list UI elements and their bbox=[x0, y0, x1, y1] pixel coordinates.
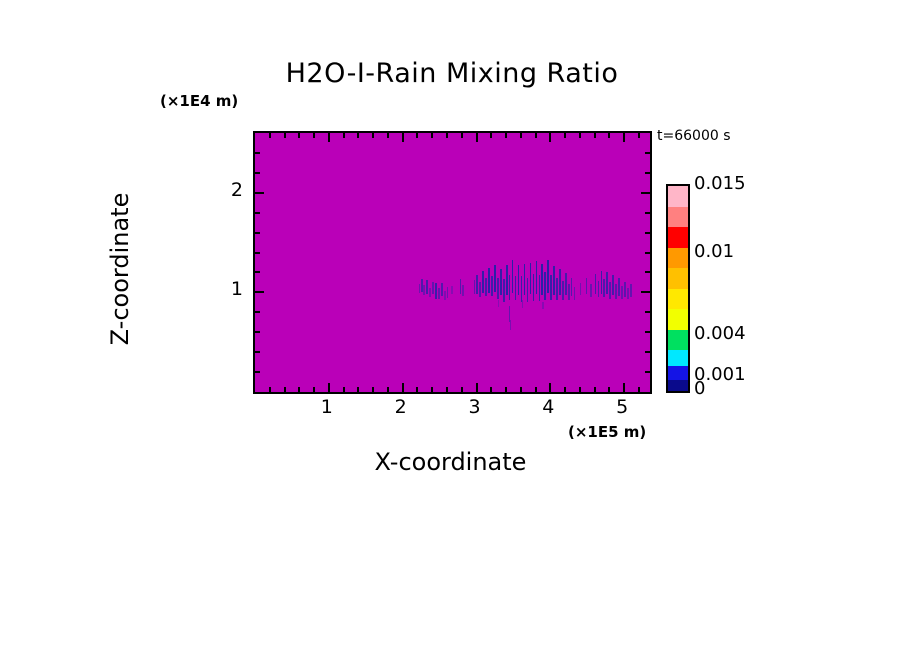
data-streak bbox=[521, 276, 523, 302]
y-tick bbox=[255, 192, 264, 194]
colorbar-band bbox=[668, 380, 688, 391]
data-streak bbox=[515, 276, 517, 300]
data-streak bbox=[438, 288, 440, 299]
x-tick-top bbox=[343, 387, 345, 392]
colorbar-band bbox=[668, 186, 688, 207]
y-tick-label: 1 bbox=[213, 278, 243, 300]
data-streak bbox=[539, 275, 541, 301]
data-streak bbox=[509, 275, 511, 300]
data-streak bbox=[497, 278, 499, 299]
x-tick-top bbox=[520, 387, 522, 392]
y-tick bbox=[255, 291, 264, 293]
heatmap-field bbox=[255, 133, 650, 392]
data-streak bbox=[630, 284, 632, 297]
y-tick-right bbox=[641, 291, 650, 293]
plot-area bbox=[253, 131, 652, 394]
x-tick-top bbox=[505, 387, 507, 392]
time-annotation: t=66000 s bbox=[657, 128, 731, 144]
x-tick bbox=[387, 133, 389, 138]
colorbar-tick-label: 0.004 bbox=[694, 323, 746, 344]
x-tick-top bbox=[431, 387, 433, 392]
data-streak bbox=[627, 288, 629, 299]
x-tick bbox=[284, 133, 286, 138]
x-tick-top bbox=[608, 387, 610, 392]
x-tick bbox=[520, 133, 522, 138]
data-streak bbox=[606, 272, 608, 294]
x-axis-unit-label: (×1E5 m) bbox=[568, 423, 646, 441]
x-tick bbox=[490, 133, 492, 138]
data-streak bbox=[435, 283, 437, 299]
colorbar-band bbox=[668, 309, 688, 330]
colorbar-tick-label: 0.015 bbox=[694, 173, 746, 194]
y-tick bbox=[255, 232, 260, 234]
data-streak bbox=[562, 281, 564, 300]
x-tick-top bbox=[564, 387, 566, 392]
data-streak bbox=[432, 282, 434, 294]
data-streak bbox=[503, 279, 505, 302]
data-streak bbox=[533, 274, 535, 301]
data-streak bbox=[609, 282, 611, 299]
data-streak bbox=[580, 283, 582, 295]
data-streak bbox=[491, 276, 493, 296]
y-tick-label: 2 bbox=[213, 179, 243, 201]
y-tick bbox=[255, 331, 260, 333]
x-tick-top bbox=[623, 383, 625, 392]
y-axis-unit-label: (×1E4 m) bbox=[160, 92, 238, 110]
x-tick-top bbox=[461, 387, 463, 392]
y-tick bbox=[255, 212, 260, 214]
colorbar-band bbox=[668, 289, 688, 310]
x-tick bbox=[269, 133, 271, 138]
data-streak bbox=[447, 287, 449, 298]
data-streak bbox=[559, 269, 561, 295]
y-tick-right bbox=[645, 371, 650, 373]
x-tick-top bbox=[372, 387, 374, 392]
data-streak bbox=[550, 275, 552, 300]
x-tick bbox=[608, 133, 610, 138]
x-tick bbox=[328, 133, 330, 142]
x-tick-top bbox=[387, 387, 389, 392]
x-tick-top bbox=[284, 387, 286, 392]
data-streak bbox=[518, 265, 520, 295]
y-tick-right bbox=[645, 271, 650, 273]
data-streak bbox=[615, 284, 617, 299]
colorbar-band bbox=[668, 227, 688, 248]
data-streak bbox=[553, 266, 555, 295]
data-streak bbox=[460, 279, 462, 294]
data-streak bbox=[544, 272, 546, 300]
y-tick bbox=[255, 271, 260, 273]
data-streak bbox=[595, 274, 597, 294]
x-tick-label: 2 bbox=[381, 396, 421, 418]
x-tick-top bbox=[269, 387, 271, 392]
y-tick bbox=[255, 252, 260, 254]
y-tick bbox=[255, 152, 260, 154]
data-streak bbox=[462, 285, 464, 296]
y-tick bbox=[255, 371, 260, 373]
y-tick-right bbox=[645, 212, 650, 214]
x-tick bbox=[298, 133, 300, 138]
x-tick-top bbox=[298, 387, 300, 392]
x-tick bbox=[476, 133, 478, 142]
y-tick-right bbox=[645, 331, 650, 333]
y-tick-right bbox=[645, 252, 650, 254]
y-tick-right bbox=[645, 311, 650, 313]
data-streak bbox=[536, 261, 538, 295]
data-streak bbox=[574, 287, 576, 300]
x-tick-top bbox=[535, 387, 537, 392]
x-tick bbox=[638, 133, 640, 138]
data-streak bbox=[612, 275, 614, 295]
data-streak bbox=[482, 271, 484, 293]
data-streak bbox=[524, 264, 526, 295]
data-streak bbox=[598, 281, 600, 297]
data-streak bbox=[624, 282, 626, 297]
x-tick bbox=[623, 133, 625, 142]
x-tick-top bbox=[490, 387, 492, 392]
x-tick bbox=[549, 133, 551, 142]
y-tick bbox=[255, 351, 260, 353]
data-streak bbox=[522, 300, 524, 308]
colorbar-band bbox=[668, 207, 688, 228]
data-streak bbox=[512, 260, 514, 293]
x-tick bbox=[594, 133, 596, 138]
colorbar-band bbox=[668, 268, 688, 289]
data-streak bbox=[530, 263, 532, 295]
data-streak bbox=[601, 271, 603, 294]
data-streak bbox=[603, 279, 605, 297]
data-streak bbox=[474, 280, 476, 294]
x-tick-top bbox=[579, 387, 581, 392]
x-tick-label: 1 bbox=[307, 396, 347, 418]
x-tick-top bbox=[313, 387, 315, 392]
x-tick-top bbox=[594, 387, 596, 392]
x-tick-top bbox=[328, 383, 330, 392]
x-tick bbox=[564, 133, 566, 138]
data-streak bbox=[426, 280, 428, 294]
x-tick-top bbox=[638, 387, 640, 392]
colorbar-tick-label: 0.001 bbox=[694, 364, 746, 385]
data-streak bbox=[586, 278, 588, 294]
data-streak bbox=[547, 260, 549, 293]
data-streak bbox=[510, 320, 512, 330]
data-streak bbox=[618, 278, 620, 296]
colorbar-band bbox=[668, 248, 688, 269]
x-tick bbox=[446, 133, 448, 138]
data-streak bbox=[541, 264, 543, 295]
x-tick-label: 5 bbox=[602, 396, 642, 418]
data-streak bbox=[485, 278, 487, 296]
data-streak bbox=[476, 275, 478, 294]
x-tick bbox=[357, 133, 359, 138]
x-tick-label: 3 bbox=[454, 396, 494, 418]
data-streak bbox=[506, 265, 508, 295]
data-streak bbox=[444, 291, 446, 300]
data-streak bbox=[494, 265, 496, 292]
data-streak bbox=[571, 278, 573, 296]
colorbar-tick-label: 0.01 bbox=[694, 241, 734, 262]
data-streak bbox=[488, 268, 490, 293]
y-tick bbox=[255, 311, 260, 313]
x-tick bbox=[505, 133, 507, 138]
data-streak bbox=[500, 269, 502, 295]
colorbar bbox=[666, 184, 690, 393]
x-tick-top bbox=[357, 387, 359, 392]
y-tick-right bbox=[645, 232, 650, 234]
data-streak bbox=[621, 286, 623, 299]
x-tick bbox=[535, 133, 537, 138]
data-streak bbox=[498, 300, 500, 307]
x-tick-top bbox=[402, 383, 404, 392]
data-streak bbox=[590, 284, 592, 297]
x-tick-top bbox=[549, 383, 551, 392]
y-tick-right bbox=[641, 192, 650, 194]
chart-title: H2O-I-Rain Mixing Ratio bbox=[0, 58, 904, 89]
data-streak bbox=[568, 284, 570, 300]
colorbar-band bbox=[668, 366, 688, 380]
data-streak bbox=[527, 278, 529, 302]
x-tick bbox=[416, 133, 418, 138]
y-axis-title: Z-coordinate bbox=[106, 139, 134, 399]
x-tick bbox=[431, 133, 433, 138]
data-streak bbox=[451, 286, 453, 294]
x-tick bbox=[343, 133, 345, 138]
x-tick bbox=[461, 133, 463, 138]
x-tick bbox=[402, 133, 404, 142]
x-tick-top bbox=[416, 387, 418, 392]
x-tick bbox=[372, 133, 374, 138]
x-tick-label: 4 bbox=[528, 396, 568, 418]
colorbar-band bbox=[668, 350, 688, 366]
data-streak bbox=[542, 302, 544, 309]
y-tick bbox=[255, 172, 260, 174]
y-tick-right bbox=[645, 172, 650, 174]
data-streak bbox=[441, 283, 443, 296]
x-tick-top bbox=[476, 383, 478, 392]
data-streak bbox=[556, 278, 558, 300]
x-tick-top bbox=[446, 387, 448, 392]
x-tick bbox=[579, 133, 581, 138]
data-streak bbox=[423, 285, 425, 295]
data-streak bbox=[479, 282, 481, 297]
colorbar-band bbox=[668, 330, 688, 351]
x-tick bbox=[313, 133, 315, 138]
data-streak bbox=[565, 273, 567, 295]
data-streak bbox=[429, 288, 431, 297]
x-axis-title: X-coordinate bbox=[253, 448, 648, 476]
y-tick-right bbox=[645, 152, 650, 154]
y-tick-right bbox=[645, 351, 650, 353]
